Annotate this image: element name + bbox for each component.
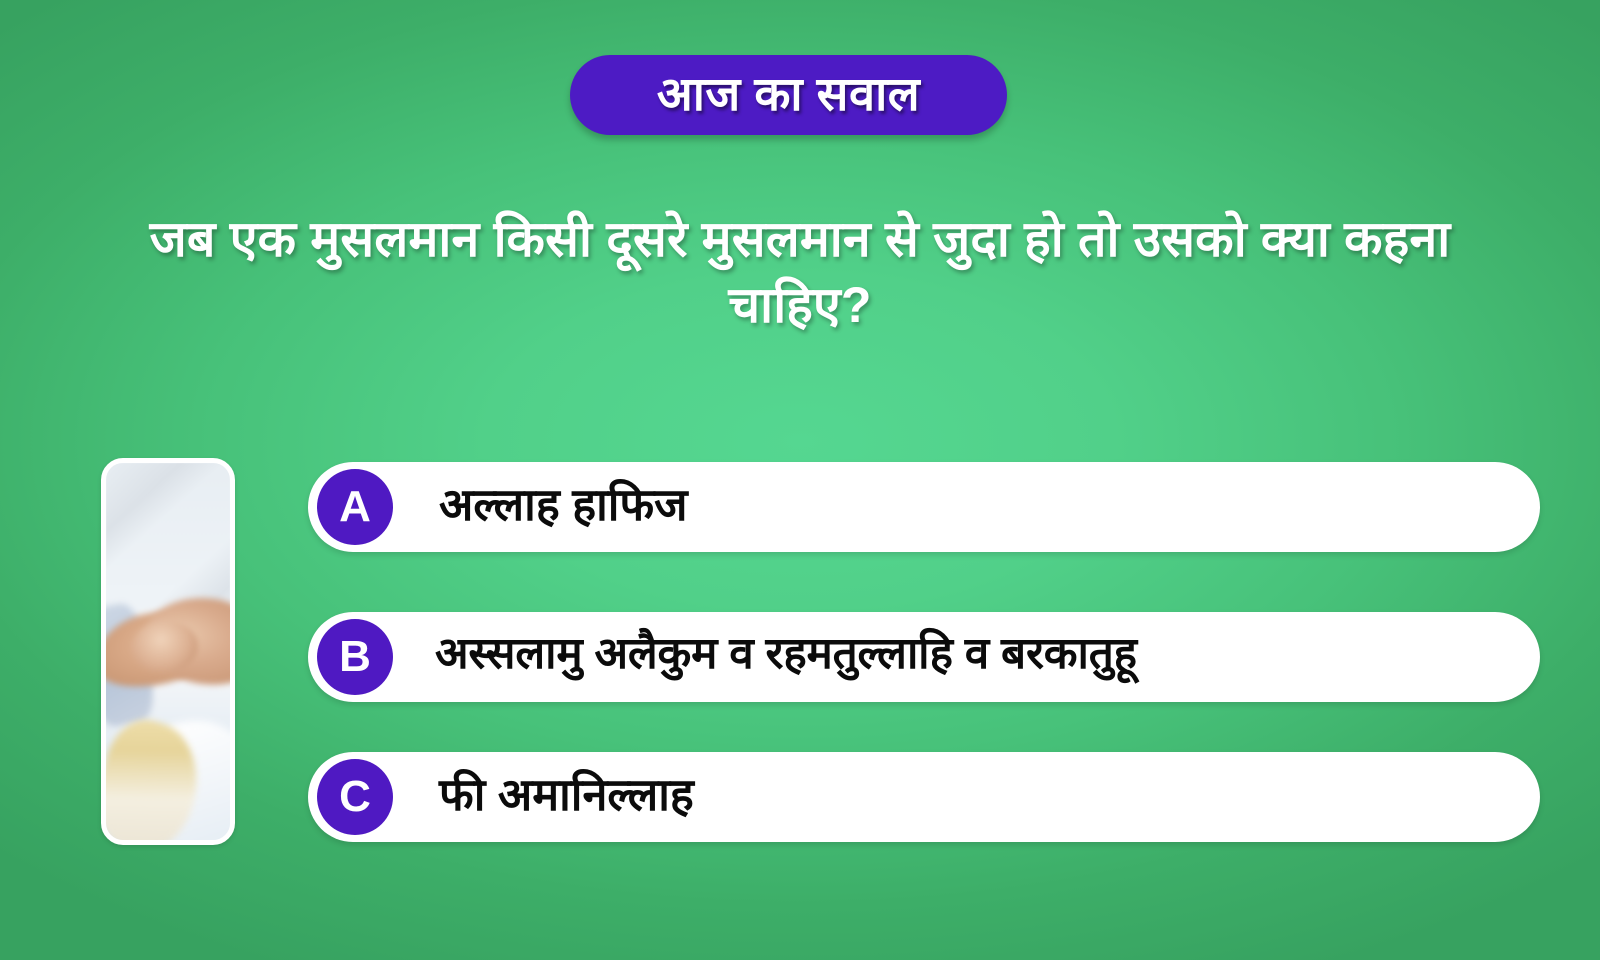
- question-block: जब एक मुसलमान किसी दूसरे मुसलमान से जुदा…: [90, 206, 1510, 338]
- answer-badge-a: A: [317, 469, 393, 545]
- answer-badge-b: B: [317, 619, 393, 695]
- answer-badge-c: C: [317, 759, 393, 835]
- answer-option-b[interactable]: B अस्सलामु अलैकुम व रहमतुल्लाहि व बरकातु…: [308, 612, 1540, 702]
- answer-label-a: अल्लाह हाफिज: [439, 482, 688, 533]
- handshake-photo: [106, 463, 230, 840]
- answer-label-c: फी अमानिल्लाह: [439, 772, 694, 823]
- answer-option-a[interactable]: A अल्लाह हाफिज: [308, 462, 1540, 552]
- handshake-thumbnail: [101, 458, 235, 845]
- header-badge: आज का सवाल: [570, 55, 1007, 135]
- answer-option-c[interactable]: C फी अमानिल्लाह: [308, 752, 1540, 842]
- quiz-card: आज का सवाल जब एक मुसलमान किसी दूसरे मुसल…: [0, 0, 1600, 960]
- header-badge-label: आज का सवाल: [657, 70, 920, 121]
- answer-label-b: अस्सलामु अलैकुम व रहमतुल्लाहि व बरकातुहू: [435, 632, 1137, 682]
- question-text: जब एक मुसलमान किसी दूसरे मुसलमान से जुदा…: [90, 206, 1510, 338]
